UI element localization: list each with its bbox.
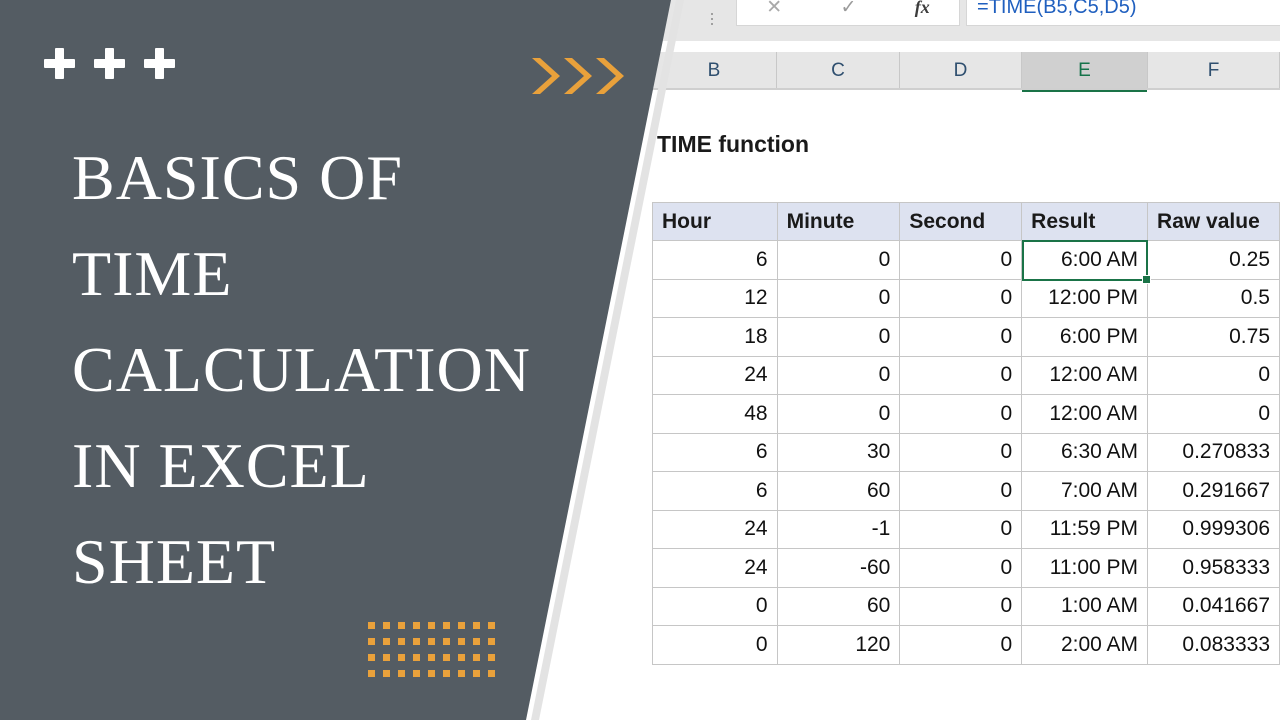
table-cell[interactable]: 0.958333 <box>1148 549 1280 588</box>
table-cell[interactable]: 0 <box>900 626 1022 665</box>
table-cell[interactable]: 6 <box>653 472 778 511</box>
table-cell[interactable]: 60 <box>777 472 900 511</box>
plus-decoration-row <box>44 48 175 79</box>
table-cell[interactable]: 0 <box>777 241 900 280</box>
table-cell[interactable]: 0 <box>777 279 900 318</box>
table-cell[interactable]: 0 <box>777 395 900 434</box>
formula-ref-3: D5 <box>1104 0 1130 19</box>
table-cell[interactable]: 6:30 AM <box>1022 433 1148 472</box>
dot <box>398 638 405 645</box>
column-header-d[interactable]: D <box>900 52 1022 90</box>
table-cell[interactable]: 7:00 AM <box>1022 472 1148 511</box>
table-cell[interactable]: 0 <box>900 241 1022 280</box>
formula-bar-buttons: ✕ ✓ fx <box>736 0 960 26</box>
dot <box>443 654 450 661</box>
table-cell[interactable]: 6:00 PM <box>1022 318 1148 357</box>
column-header-f[interactable]: F <box>1148 52 1280 90</box>
table-cell[interactable]: 0 <box>900 472 1022 511</box>
dot <box>413 654 420 661</box>
dot <box>488 622 495 629</box>
dot <box>398 670 405 677</box>
column-header-c[interactable]: C <box>777 52 900 90</box>
page-title: Basics of time calculation in excel shee… <box>72 130 572 610</box>
table-header-row: HourMinuteSecondResultRaw value <box>653 203 1280 241</box>
dot <box>383 622 390 629</box>
formula-input[interactable]: =TIME(B5,C5,D5) <box>966 0 1280 26</box>
table-cell[interactable]: 24 <box>653 510 778 549</box>
table-cell[interactable]: 0.083333 <box>1148 626 1280 665</box>
dot <box>458 670 465 677</box>
dot <box>413 638 420 645</box>
dot <box>398 654 405 661</box>
table-cell[interactable]: 0.270833 <box>1148 433 1280 472</box>
table-cell[interactable]: 2:00 AM <box>1022 626 1148 665</box>
table-body: 6006:00 AM0.25120012:00 PM0.518006:00 PM… <box>653 241 1280 665</box>
dot <box>383 638 390 645</box>
dot <box>443 670 450 677</box>
table-cell[interactable]: 120 <box>777 626 900 665</box>
chevron-right-icon <box>562 54 594 98</box>
chevron-decoration-row <box>530 54 626 98</box>
table-cell[interactable]: 0 <box>1148 395 1280 434</box>
table-cell[interactable]: 0.291667 <box>1148 472 1280 511</box>
formula-close-paren: ) <box>1130 0 1137 19</box>
table-row: 012002:00 AM0.083333 <box>653 626 1280 665</box>
dot <box>473 622 480 629</box>
table-cell[interactable]: 6 <box>653 241 778 280</box>
check-icon[interactable]: ✓ <box>840 0 856 17</box>
table-row: 6006:00 AM0.25 <box>653 241 1280 280</box>
dot <box>473 670 480 677</box>
table-row: 63006:30 AM0.270833 <box>653 433 1280 472</box>
dot <box>458 638 465 645</box>
table-cell[interactable]: 0 <box>1148 356 1280 395</box>
dot <box>443 638 450 645</box>
table-cell[interactable]: 0 <box>900 510 1022 549</box>
dot <box>488 638 495 645</box>
table-cell[interactable]: 6:00 AM <box>1022 241 1148 280</box>
table-cell[interactable]: 0 <box>900 356 1022 395</box>
table-cell[interactable]: 0 <box>777 318 900 357</box>
dot <box>368 670 375 677</box>
formula-ref-2: C5 <box>1073 0 1099 19</box>
column-label-second: Second <box>900 203 1022 241</box>
plus-icon <box>144 48 175 79</box>
dot <box>458 622 465 629</box>
table-cell[interactable]: 12:00 PM <box>1022 279 1148 318</box>
dot <box>398 622 405 629</box>
table-cell[interactable]: 24 <box>653 356 778 395</box>
sheet-section-title: TIME function <box>657 131 809 158</box>
dot <box>473 654 480 661</box>
column-label-raw-value: Raw value <box>1148 203 1280 241</box>
table-row: 06001:00 AM0.041667 <box>653 587 1280 626</box>
dot <box>428 622 435 629</box>
table-cell[interactable]: 0.25 <box>1148 241 1280 280</box>
table-cell[interactable]: 0 <box>900 395 1022 434</box>
table-cell[interactable]: 0 <box>900 549 1022 588</box>
formula-ref-1: B5 <box>1043 0 1067 19</box>
table-cell[interactable]: 60 <box>777 587 900 626</box>
table-cell[interactable]: 0.041667 <box>1148 587 1280 626</box>
dot <box>428 654 435 661</box>
table-cell[interactable]: 11:00 PM <box>1022 549 1148 588</box>
dot <box>413 670 420 677</box>
table-cell[interactable]: 48 <box>653 395 778 434</box>
dot <box>368 638 375 645</box>
table-cell[interactable]: 30 <box>777 433 900 472</box>
dot <box>383 670 390 677</box>
dot <box>488 670 495 677</box>
vertical-dots-icon[interactable] <box>706 8 718 30</box>
table-cell[interactable]: 1:00 AM <box>1022 587 1148 626</box>
table-row: 480012:00 AM0 <box>653 395 1280 434</box>
table-cell[interactable]: 18 <box>653 318 778 357</box>
table-cell[interactable]: 0 <box>900 587 1022 626</box>
table-cell[interactable]: 12:00 AM <box>1022 395 1148 434</box>
fill-handle[interactable] <box>1142 275 1151 284</box>
dot <box>488 654 495 661</box>
dot <box>413 622 420 629</box>
table-cell[interactable]: 0.75 <box>1148 318 1280 357</box>
insert-function-icon[interactable]: fx <box>915 0 930 16</box>
formula-equals: = <box>977 0 989 19</box>
dot <box>458 654 465 661</box>
table-row: 24-60011:00 PM0.958333 <box>653 549 1280 588</box>
dot <box>443 622 450 629</box>
table-row: 18006:00 PM0.75 <box>653 318 1280 357</box>
data-table: HourMinuteSecondResultRaw value 6006:00 … <box>652 202 1280 665</box>
table-cell[interactable]: 12:00 AM <box>1022 356 1148 395</box>
table-cell[interactable]: 6 <box>653 433 778 472</box>
dot <box>428 638 435 645</box>
chevron-right-icon <box>530 54 562 98</box>
table-cell[interactable]: 11:59 PM <box>1022 510 1148 549</box>
table-cell[interactable]: 0 <box>653 626 778 665</box>
table-cell[interactable]: -1 <box>777 510 900 549</box>
plus-icon <box>44 48 75 79</box>
table-cell[interactable]: 0 <box>900 318 1022 357</box>
table-row: 24-1011:59 PM0.999306 <box>653 510 1280 549</box>
dot <box>368 654 375 661</box>
dot-grid-decoration <box>368 622 503 686</box>
table-cell[interactable]: 0.5 <box>1148 279 1280 318</box>
column-label-hour: Hour <box>653 203 778 241</box>
column-label-minute: Minute <box>777 203 900 241</box>
chevron-right-icon <box>594 54 626 98</box>
table-cell[interactable]: 0 <box>777 356 900 395</box>
table-cell[interactable]: 24 <box>653 549 778 588</box>
table-cell[interactable]: -60 <box>777 549 900 588</box>
column-header-e[interactable]: E <box>1022 52 1148 90</box>
table-cell[interactable]: 0 <box>900 433 1022 472</box>
table-row: 240012:00 AM0 <box>653 356 1280 395</box>
plus-icon <box>94 48 125 79</box>
column-label-result: Result <box>1022 203 1148 241</box>
formula-function-name: TIME( <box>989 0 1043 19</box>
table-row: 66007:00 AM0.291667 <box>653 472 1280 511</box>
dot <box>428 670 435 677</box>
dot <box>383 654 390 661</box>
table-cell[interactable]: 12 <box>653 279 778 318</box>
table-row: 120012:00 PM0.5 <box>653 279 1280 318</box>
dot <box>368 622 375 629</box>
table-cell[interactable]: 0 <box>653 587 778 626</box>
table-cell[interactable]: 0.999306 <box>1148 510 1280 549</box>
dot <box>473 638 480 645</box>
table-cell[interactable]: 0 <box>900 279 1022 318</box>
close-icon[interactable]: ✕ <box>766 0 782 17</box>
